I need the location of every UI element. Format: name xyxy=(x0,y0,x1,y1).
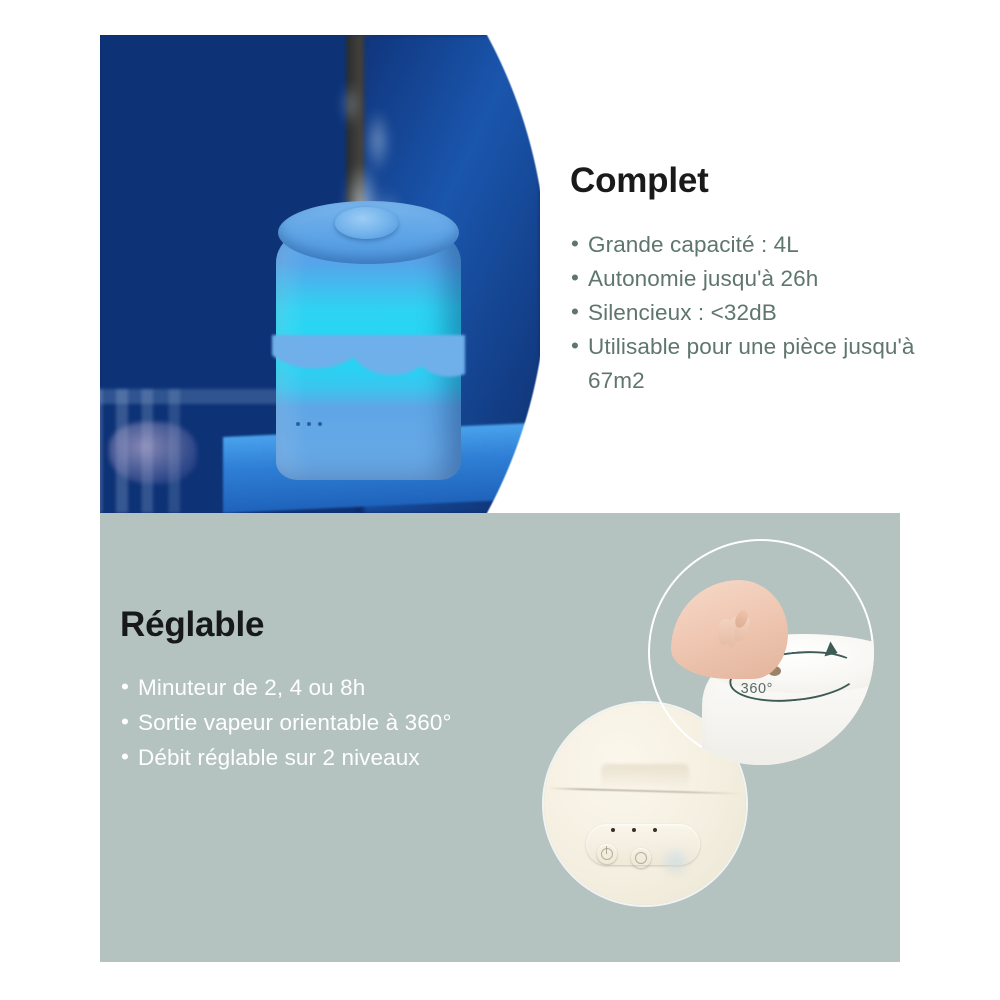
led-dot xyxy=(653,828,657,832)
reglable-heading: Réglable xyxy=(120,606,550,645)
led-dot xyxy=(318,422,322,426)
water-level-wave xyxy=(272,335,464,392)
indicator-leds xyxy=(296,422,322,426)
pillow xyxy=(109,422,197,484)
led-dot xyxy=(307,422,311,426)
photo-arc-mask xyxy=(100,35,540,513)
feature-item: Minuteur de 2, 4 ou 8h xyxy=(120,670,550,705)
hand-rotating-mist-outlet: 360° xyxy=(648,539,874,765)
led-dot xyxy=(296,422,300,426)
mist-icon xyxy=(665,850,685,870)
feature-item: Silencieux : <32dB xyxy=(570,296,962,330)
timer-icon xyxy=(631,848,651,868)
led-dot xyxy=(611,828,615,832)
led-dot xyxy=(632,828,636,832)
feature-item: Autonomie jusqu'à 26h xyxy=(570,262,962,296)
reglable-feature-list: Minuteur de 2, 4 ou 8h Sortie vapeur ori… xyxy=(120,670,550,775)
complet-feature-list: Grande capacité : 4L Autonomie jusqu'à 2… xyxy=(570,228,962,398)
humidifier-night-photo xyxy=(100,35,540,513)
feature-item: Sortie vapeur orientable à 360° xyxy=(120,705,550,740)
product-inset-group: 360° xyxy=(530,535,900,935)
rotation-scene: 360° xyxy=(648,539,874,765)
feature-item: Utilisable pour une pièce jusqu'à 67m2 xyxy=(570,330,962,398)
complet-feature-block: Complet Grande capacité : 4L Autonomie j… xyxy=(570,162,962,398)
power-icon xyxy=(597,844,617,864)
led-indicator-row xyxy=(611,828,657,832)
mist-nozzle-icon xyxy=(335,207,398,239)
humidifier-device xyxy=(276,193,461,480)
reglable-panel: Réglable Minuteur de 2, 4 ou 8h Sortie v… xyxy=(100,513,900,962)
brand-emboss xyxy=(601,764,690,788)
complet-heading: Complet xyxy=(570,162,962,201)
feature-item: Débit réglable sur 2 niveaux xyxy=(120,740,550,775)
lid-seam xyxy=(548,787,742,794)
feature-item: Grande capacité : 4L xyxy=(570,228,962,262)
reglable-feature-block: Réglable Minuteur de 2, 4 ou 8h Sortie v… xyxy=(120,606,550,775)
rotation-label: 360° xyxy=(741,681,773,697)
top-section: Complet Grande capacité : 4L Autonomie j… xyxy=(0,0,1000,513)
hand-illustration xyxy=(671,580,789,679)
